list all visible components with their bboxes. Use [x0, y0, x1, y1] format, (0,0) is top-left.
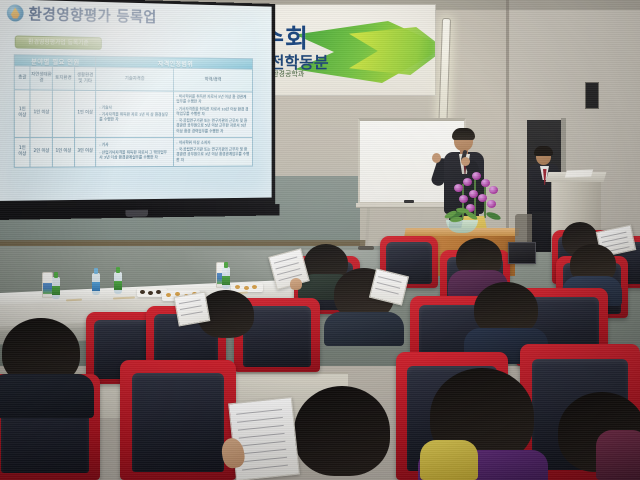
whiteboard-foot	[358, 246, 374, 250]
projection-screen: 환경영향평가 등록업 환경영향평가업 등록기준 분야별 필요 인원 자격인정범위…	[0, 0, 275, 218]
attendee-shoulders	[0, 374, 94, 418]
seat-highlight	[136, 376, 220, 390]
cell-scope: - 석사학위 이상 소지자 - 국·공립연구기관 또는 연구기관의 근무자 및 …	[173, 137, 252, 166]
cell-nature: 1인 이상	[30, 90, 52, 138]
lecture-hall-photo: 수회 구전학동분 고급 환경공학과 환경영향평가 등록업 환경영향평가업 등록기…	[0, 0, 640, 480]
orchid-bloom	[489, 186, 498, 194]
water-bottle	[92, 273, 100, 295]
attendee-shoulders	[324, 312, 404, 346]
potted-plant	[432, 206, 490, 232]
cell-total: 1인 이상	[14, 90, 30, 138]
subheader-land-env: 토지환경	[52, 66, 74, 90]
presentation-slide: 환경영향평가 등록업 환경영향평가업 등록기준 분야별 필요 인원 자격인정범위…	[0, 0, 272, 201]
slide-subtitle-bar: 환경영향평가업 등록기준	[15, 35, 102, 50]
presenter-hand-left	[432, 153, 441, 163]
attendee-scarf	[420, 440, 478, 480]
cell-nature: 2인 이상	[30, 137, 52, 167]
attendee-shoulders	[596, 430, 640, 480]
orchid-bloom	[454, 184, 463, 192]
screen-frame: 환경영향평가 등록업 환경영향평가업 등록기준 분야별 필요 인원 자격인정범위…	[0, 0, 275, 212]
company-emblem-icon	[7, 4, 24, 21]
snack-item	[252, 285, 257, 289]
tech-line: - 기사자격을 취득한 자로 1년 이 상 환경실무를 수행한 자	[99, 111, 170, 122]
plant-bowl	[446, 220, 478, 233]
cell-land	[52, 90, 74, 137]
seat-highlight	[537, 362, 623, 378]
presenter-hair	[452, 128, 475, 140]
table-header-sub: 총괄 자연생태환경 토지환경 생활환경 및 기타 기술자격증 학력/경력	[14, 66, 252, 92]
screen-pull-handle[interactable]	[125, 210, 147, 217]
orchid-bloom	[469, 190, 478, 198]
orchid-bloom	[459, 195, 468, 203]
wall-mounted-speaker	[585, 82, 599, 109]
orchid-bloom	[481, 179, 490, 187]
slide-title: 환경영향평가 등록업	[29, 3, 157, 27]
cell-living: 3인 이상	[74, 137, 96, 167]
tech-line: - 기사	[99, 142, 170, 147]
attendee	[0, 318, 86, 402]
table-row: 1인 이상 1인 이상 1인 이상 - 기술사 - 기사자격을 취득한 자로 1…	[14, 90, 252, 138]
cell-tech: - 기사 - 산업기사자격을 취득한 자로서 그 밖의업무사 3년 이상 환경관…	[96, 137, 173, 166]
tablet-device	[508, 242, 536, 264]
subheader-nature-eco: 자연생태환경	[30, 66, 52, 90]
scope-line: - 국·공립연구기관 또는 연구기관의 근무자 및 환경관련 공무원으로 3년 …	[176, 147, 249, 162]
snack-item	[148, 291, 153, 295]
water-bottle	[114, 272, 122, 294]
subheader-tech-cert: 기술자격증	[96, 67, 173, 91]
orchid-bloom	[472, 172, 481, 180]
scope-line: - 기사자격증을 취득한 자로서 10년 이상 환경 경력업무를 수행한 자	[176, 106, 249, 116]
cell-living: 1인 이상	[74, 90, 96, 137]
cell-scope: - 박사학위를 취득한 자로서 5년 이상 환 경관계 업무를 수행한 자 - …	[173, 91, 252, 137]
podium-papers	[565, 170, 593, 178]
water-bottle	[222, 267, 230, 289]
orchid-bloom	[478, 194, 487, 202]
attendee	[290, 386, 398, 480]
attendee-hair	[294, 386, 390, 476]
orchid-bloom	[463, 178, 472, 186]
seat-highlight	[388, 243, 430, 249]
cell-land: 1인 이상	[52, 137, 74, 167]
wall-banner: 수회 구전학동분 고급 환경공학과	[252, 4, 436, 96]
cell-total: 1인 이상	[14, 137, 30, 167]
cup-label	[43, 283, 52, 294]
bottle-label	[92, 282, 100, 291]
subheader-total: 총괄	[14, 66, 30, 90]
scope-line: - 석사학위 이상 소지자	[176, 140, 249, 145]
snack-item	[235, 285, 240, 289]
slide-table: 분야별 필요 인원 자격인정범위 총괄 자연생태환경 토지환경 생활환경 및 기…	[14, 54, 253, 167]
tech-line: - 산업기사자격을 취득한 자로서 그 밖의업무사 3년 이상 환경관계실무를 …	[99, 149, 170, 159]
presenter-hand-right	[461, 157, 470, 166]
scope-line: - 박사학위를 취득한 자로서 5년 이상 환 경관계 업무를 수행한 자	[176, 94, 249, 105]
bottle-label	[52, 286, 60, 295]
snack-item	[140, 290, 145, 294]
attendee-hand	[290, 278, 302, 290]
auditorium-seat	[120, 360, 236, 480]
tech-line: - 기술사	[99, 104, 170, 110]
subheader-living-env: 생활환경 및 기타	[74, 67, 96, 91]
screen-surface: 환경영향평가 등록업 환경영향평가업 등록기준 분야별 필요 인원 자격인정범위…	[0, 0, 272, 201]
bottle-label	[114, 281, 122, 290]
handout-booklet	[174, 291, 211, 326]
scope-line: - 국·공립연구기관 또는 연구기관의 근무자 및 환경관련 공무원으로 5년 …	[176, 118, 249, 133]
table-row: 1인 이상 2인 이상 1인 이상 3인 이상 - 기사 - 산업기사자격을 취…	[14, 137, 252, 167]
moderator-hair	[534, 146, 553, 156]
cell-tech: - 기술사 - 기사자격을 취득한 자로 1년 이 상 환경실무를 수행한 자	[96, 90, 173, 137]
bottle-label	[222, 276, 230, 285]
water-bottle	[52, 277, 60, 299]
handout-booklet	[228, 397, 300, 480]
snack-item	[166, 293, 171, 297]
snack-item	[156, 290, 161, 294]
subheader-education-career: 학력/경력	[173, 68, 252, 92]
